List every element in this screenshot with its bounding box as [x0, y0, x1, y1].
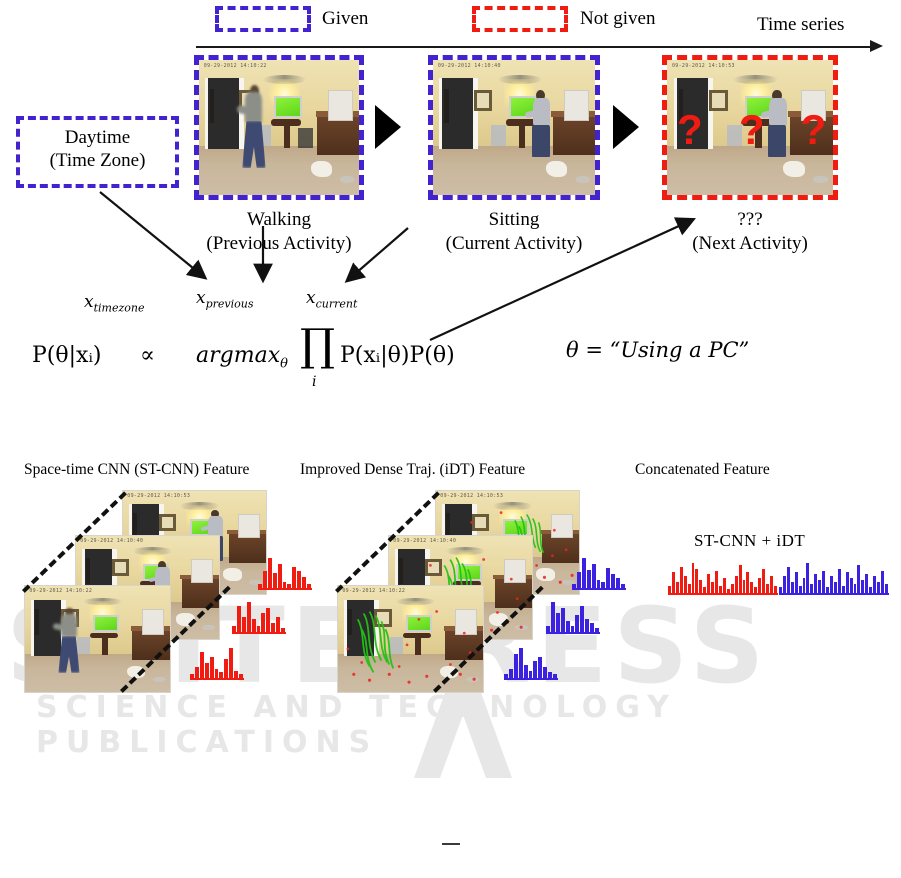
histogram-stcnn-1: [258, 558, 312, 588]
formula-argmax: argmaxθ: [196, 343, 288, 371]
context-box-line1: Daytime: [20, 126, 175, 149]
histogram-bar: [200, 652, 204, 678]
histogram-bar: [688, 584, 691, 593]
histogram-stcnn-2: [232, 602, 286, 632]
histogram-bar: [795, 572, 798, 593]
section-title-idt: Improved Dense Traj. (iDT) Feature: [300, 461, 525, 479]
formula-likelihood: P(xᵢ|θ)P(θ): [340, 343, 455, 368]
histogram-bar: [770, 576, 773, 593]
histogram-bar: [580, 606, 584, 632]
histogram-bar: [234, 671, 238, 679]
histogram-bar: [735, 576, 738, 593]
frame-timestamp: 09-29-2012 14:10:40: [80, 538, 143, 544]
histogram-bar: [758, 578, 761, 593]
histogram-bar: [616, 578, 620, 588]
histogram-bar: [592, 564, 596, 588]
histogram-bar: [551, 602, 555, 632]
histogram-bar: [271, 623, 275, 632]
histogram-idt-1: [572, 558, 626, 588]
histogram-bar: [822, 571, 825, 594]
label-x-current: xcurrent: [306, 288, 357, 310]
histogram-bar: [830, 576, 833, 593]
histogram-bar: [252, 619, 256, 632]
histogram-bar: [750, 582, 753, 593]
histogram-bar: [881, 571, 884, 594]
histogram-bar: [857, 565, 860, 593]
frame-timestamp: 09-29-2012 14:10:22: [204, 63, 267, 69]
timeline-label: Time series: [757, 14, 844, 36]
context-box-daytime[interactable]: Daytime (Time Zone): [16, 116, 179, 188]
histogram-baseline: [546, 632, 600, 634]
scene-living-room: 09-29-2012 14:10:40: [433, 60, 595, 195]
histogram-bar: [799, 586, 802, 594]
scene-living-room: 09-29-2012 14:10:22: [199, 60, 359, 195]
histogram-bar: [873, 576, 876, 593]
histogram-bar: [746, 572, 749, 593]
histogram-bar: [791, 582, 794, 593]
scene-living-room-idt: 09-29-2012 14:10:22: [338, 586, 483, 692]
refrigerator: [564, 90, 589, 122]
histogram-baseline: [232, 632, 286, 634]
histogram-bar: [680, 567, 683, 593]
histogram-bar: [699, 580, 702, 593]
x-base: x: [84, 292, 94, 312]
x-base: x: [306, 288, 316, 308]
monitor: [274, 96, 302, 118]
histogram-bar: [273, 573, 277, 588]
formula-posterior: P(θ|xᵢ): [32, 343, 101, 368]
histogram-bar: [846, 572, 849, 593]
histogram-bar: [818, 580, 821, 593]
bag-on-floor: [311, 161, 332, 177]
frame-timestamp: 09-29-2012 14:10:40: [438, 63, 501, 69]
histogram-bar: [611, 574, 615, 588]
argmax-subscript: θ: [280, 356, 288, 371]
frame-timestamp: 09-29-2012 14:10:22: [29, 588, 92, 594]
histogram-bar: [676, 582, 679, 593]
histogram-bar: [787, 567, 790, 593]
histogram-bar: [514, 654, 518, 678]
histogram-bar: [297, 571, 301, 588]
histogram-bar: [715, 571, 718, 594]
histogram-bar: [842, 586, 845, 594]
histogram-bar: [861, 580, 864, 593]
histogram-bar: [838, 569, 841, 593]
histogram-bar: [261, 613, 265, 632]
legend-swatch-given: [215, 6, 311, 32]
formula-product-index: i: [312, 374, 316, 390]
table-leg: [519, 125, 525, 148]
histogram-bar: [810, 584, 813, 593]
histogram-bar: [556, 613, 560, 632]
histogram-bar: [743, 580, 746, 593]
histogram-bar: [692, 563, 695, 593]
histogram-baseline: [504, 678, 558, 680]
frame-timestamp: 09-29-2012 14:10:53: [440, 493, 503, 499]
histogram-bar: [672, 572, 675, 593]
scene-living-room: 09-29-2012 14:10:53 ? ? ?: [667, 60, 833, 195]
histogram-bar: [533, 661, 537, 678]
histogram-idt-2: [546, 602, 600, 632]
histogram-bar: [762, 569, 765, 593]
histogram-bar: [850, 578, 853, 593]
table-leg: [284, 125, 290, 148]
bottom-dash-mark: [442, 843, 460, 845]
histogram-bar: [719, 586, 722, 594]
histogram-bar: [668, 586, 671, 594]
chair-secondary: [298, 128, 312, 148]
histogram-bar: [195, 667, 199, 678]
frame-current-activity[interactable]: 09-29-2012 14:10:40: [428, 55, 600, 200]
refrigerator: [328, 90, 352, 122]
formula-proportional: ∝: [140, 343, 155, 368]
histogram-baseline: [190, 678, 244, 680]
frame-previous-activity[interactable]: 09-29-2012 14:10:22: [194, 55, 364, 200]
histogram-idt-3: [504, 648, 558, 678]
histogram-bar: [529, 671, 533, 679]
histogram-bar: [606, 568, 610, 588]
histogram-bar: [865, 574, 868, 593]
question-mark-icon: ?: [677, 109, 703, 151]
x-sub: previous: [206, 297, 254, 310]
histogram-bar: [774, 586, 777, 594]
histogram-bar: [229, 648, 233, 678]
histogram-bar: [739, 565, 742, 593]
histogram-bar: [806, 563, 809, 593]
section-title-stcnn: Space-time CNN (ST-CNN) Feature: [24, 461, 249, 479]
histogram-bar: [543, 667, 547, 678]
person-sitting: [530, 95, 554, 157]
histogram-bar: [276, 617, 280, 632]
histogram-bar: [723, 578, 726, 593]
histogram-bar: [766, 584, 769, 593]
histogram-stcnn-3: [190, 648, 244, 678]
histogram-bar: [210, 657, 214, 678]
histogram-bar: [803, 578, 806, 593]
histogram-bar: [854, 584, 857, 593]
histogram-bar: [711, 582, 714, 593]
histogram-bar: [278, 564, 282, 588]
arrow-prediction: [430, 220, 692, 340]
person-walking: [241, 92, 268, 168]
prediction-label: θ = “Using a PC”: [566, 338, 749, 362]
histogram-bar: [519, 648, 523, 678]
frame-timestamp: 09-29-2012 14:10:53: [127, 493, 190, 499]
histogram-bar: [783, 576, 786, 593]
concat-feature-label: ST-CNN + iDT: [694, 531, 805, 551]
histogram-bar: [215, 669, 219, 678]
timeline-arrowhead: [870, 40, 883, 52]
formula-product-symbol: ∏: [300, 326, 335, 366]
histogram-baseline: [572, 588, 626, 590]
histogram-baseline: [779, 593, 889, 595]
histogram-baseline: [258, 588, 312, 590]
bag-on-floor: [783, 161, 805, 177]
histogram-bar: [684, 576, 687, 593]
arrow-current: [348, 228, 408, 280]
legend-label-given: Given: [322, 6, 368, 32]
histogram-bar: [509, 669, 513, 678]
histogram-bar: [266, 608, 270, 632]
doorway: [439, 78, 478, 150]
play-arrow-2: [613, 105, 639, 149]
histogram-bar: [566, 621, 570, 632]
scene-living-room: 09-29-2012 14:10:22: [25, 586, 170, 692]
frame-timestamp: 09-29-2012 14:10:53: [672, 63, 735, 69]
argmax-text: argmax: [196, 343, 280, 368]
histogram-bar: [575, 615, 579, 632]
x-base: x: [196, 288, 206, 308]
frame-next-activity[interactable]: 09-29-2012 14:10:53 ? ? ?: [662, 55, 838, 200]
histogram-bar: [585, 619, 589, 632]
histogram-bar: [731, 584, 734, 593]
histogram-bar: [877, 582, 880, 593]
histogram-bar: [242, 617, 246, 632]
label-x-previous: xprevious: [196, 288, 254, 310]
histogram-bar: [302, 577, 306, 588]
histogram-bar: [582, 558, 586, 588]
histogram-bar: [247, 602, 251, 632]
histogram-baseline: [668, 593, 778, 595]
histogram-bar: [268, 558, 272, 588]
legend-swatch-not-given: [472, 6, 568, 32]
play-arrow-1: [375, 105, 401, 149]
doorway: [205, 78, 243, 150]
chair: [491, 125, 506, 147]
histogram-concat-stcnn: [668, 563, 778, 593]
x-sub: timezone: [94, 301, 145, 314]
figure-canvas: SCITEPRESS SCIENCE AND TECHNOLOGY PUBLIC…: [0, 0, 901, 878]
histogram-bar: [292, 567, 296, 588]
timeline-axis: [196, 46, 872, 48]
histogram-bar: [695, 569, 698, 593]
histogram-bar: [577, 572, 581, 588]
unknown-activity-overlay: ? ? ?: [677, 109, 826, 151]
x-sub: current: [316, 297, 358, 310]
idt-frame-bottom[interactable]: 09-29-2012 14:10:22: [337, 585, 484, 693]
bag-on-floor: [546, 161, 567, 177]
histogram-bar: [597, 580, 601, 588]
histogram-bar: [205, 663, 209, 678]
legend-label-not-given: Not given: [580, 6, 655, 32]
frame-timestamp: 09-29-2012 14:10:40: [393, 538, 456, 544]
histogram-bar: [224, 659, 228, 678]
label-x-timezone: xtimezone: [84, 292, 145, 314]
question-mark-icon: ?: [801, 109, 827, 151]
histogram-bar: [885, 584, 888, 593]
histogram-concat-idt: [779, 563, 889, 593]
stcnn-frame-bottom[interactable]: 09-29-2012 14:10:22: [24, 585, 171, 693]
frame-timestamp: 09-29-2012 14:10:22: [342, 588, 405, 594]
histogram-bar: [707, 574, 710, 593]
histogram-bar: [524, 665, 528, 678]
question-mark-icon: ?: [739, 109, 765, 151]
histogram-bar: [237, 606, 241, 632]
histogram-bar: [814, 574, 817, 593]
wall-picture: [474, 90, 493, 111]
section-title-concat: Concatenated Feature: [635, 461, 770, 479]
histogram-bar: [590, 623, 594, 632]
histogram-bar: [834, 582, 837, 593]
histogram-bar: [561, 608, 565, 632]
context-box-line2: (Time Zone): [20, 149, 175, 172]
histogram-bar: [263, 571, 267, 588]
wall-picture: [709, 90, 728, 111]
arrow-timezone: [100, 192, 204, 277]
histogram-bar: [587, 570, 591, 588]
histogram-bar: [538, 657, 542, 678]
